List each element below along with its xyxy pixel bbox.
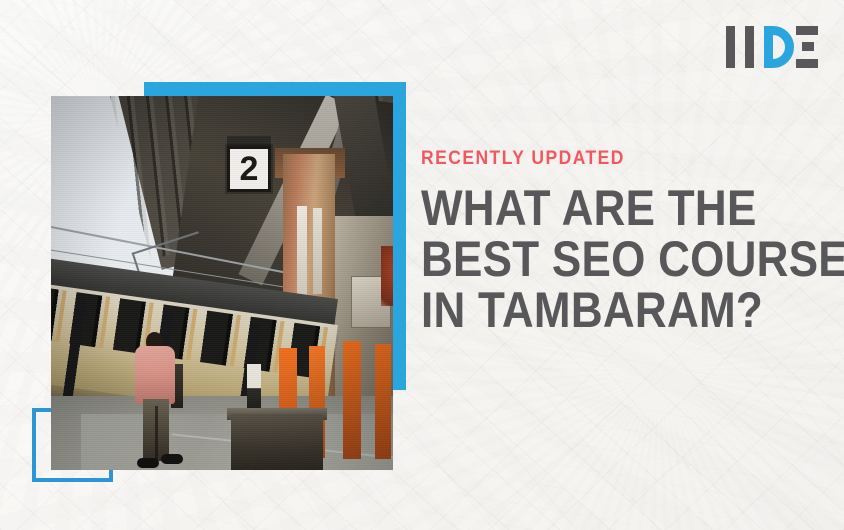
headline-line-3: IN TAMBARAM? [421,285,773,336]
logo-letter-i-second-icon [745,26,754,68]
feature-photo: 2 [51,96,393,470]
blog-feature-banner: 2 RECENTLY UPDATED [0,0,844,530]
page-title: WHAT ARE THE BEST SEO COURSES IN TAMBARA… [421,183,773,336]
headline-line-1: WHAT ARE THE [421,183,773,234]
headline-block: RECENTLY UPDATED WHAT ARE THE BEST SEO C… [421,148,821,336]
logo-letter-d-icon [764,26,794,68]
eyebrow-label: RECENTLY UPDATED [421,148,789,170]
logo-letter-e-middle-icon [802,42,814,51]
headline-line-2: BEST SEO COURSES [421,234,773,285]
iide-logo[interactable] [726,26,818,68]
logo-letter-e-top-icon [796,26,818,35]
photo-vignette [51,96,393,470]
logo-letter-i-first-icon [726,26,735,68]
logo-letter-e-bottom-icon [796,59,818,68]
